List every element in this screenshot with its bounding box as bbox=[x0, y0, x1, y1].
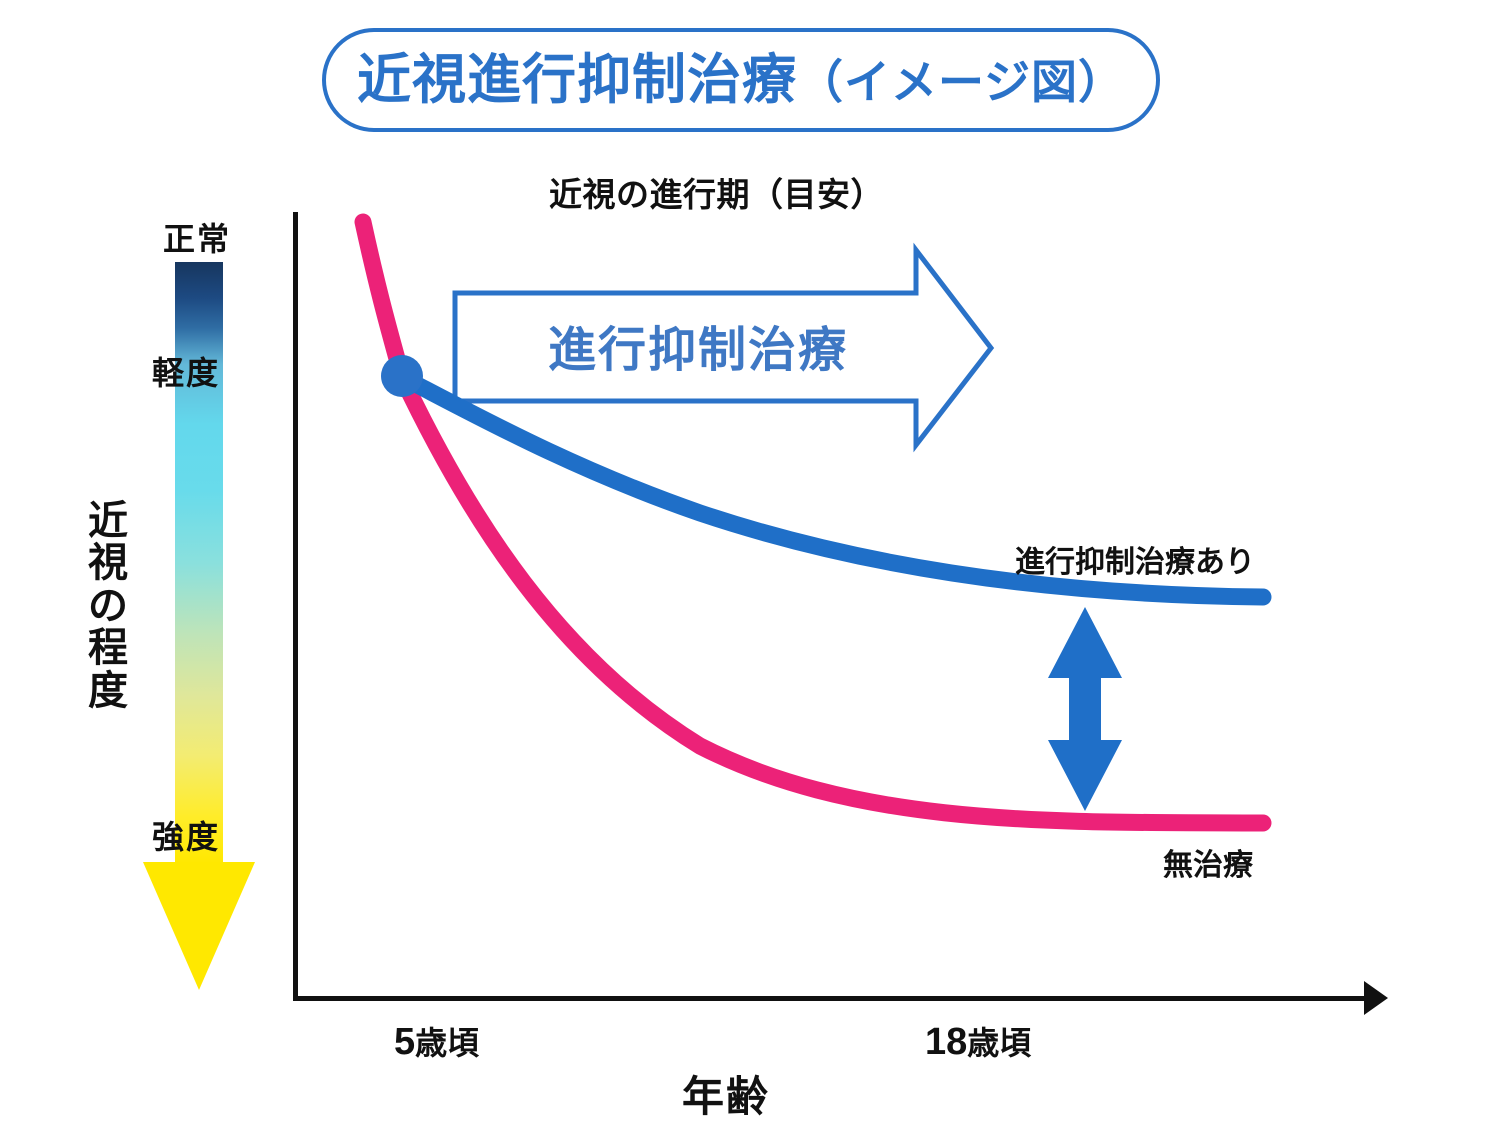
x-tick-5-number: 5 bbox=[394, 1021, 415, 1063]
x-tick-label-5: 5歳頃 bbox=[394, 1018, 479, 1064]
x-tick-18-number: 18 bbox=[925, 1021, 967, 1063]
x-axis-label: 年齢 bbox=[682, 1063, 770, 1124]
series-label-treated: 進行抑制治療あり bbox=[1015, 537, 1255, 581]
x-tick-18-unit: 歳頃 bbox=[967, 1025, 1031, 1061]
treatment-arrow-label: 進行抑制治療 bbox=[548, 310, 848, 380]
plot-area bbox=[0, 0, 1497, 1127]
series-label-untreated: 無治療 bbox=[1163, 840, 1253, 884]
x-tick-label-18: 18歳頃 bbox=[925, 1018, 1031, 1064]
branch-point-marker bbox=[381, 355, 423, 397]
infographic-canvas: 近視進行抑制治療（イメージ図） 近視の進行期（目安） 正常 軽度 強度 近 視 … bbox=[0, 0, 1497, 1127]
x-tick-5-unit: 歳頃 bbox=[415, 1025, 479, 1061]
difference-double-arrow-icon bbox=[1048, 607, 1122, 811]
